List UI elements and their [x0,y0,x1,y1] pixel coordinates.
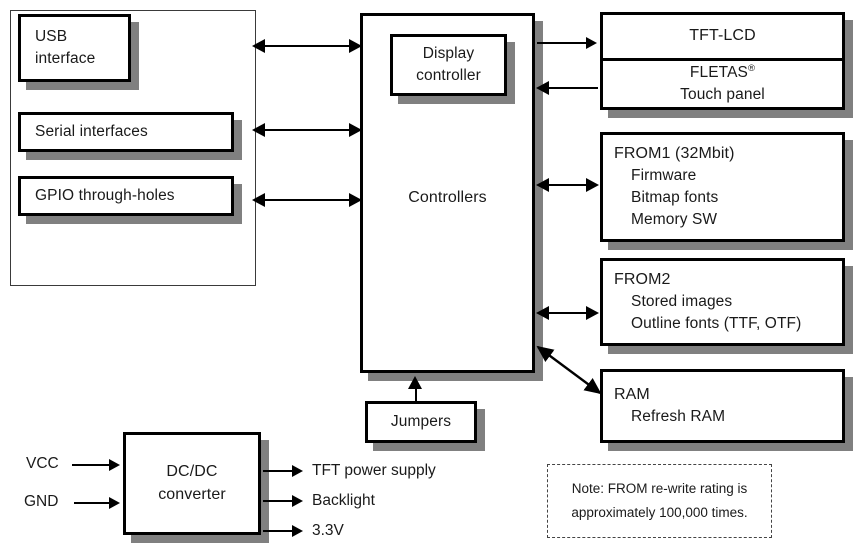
dcdc-converter-line-2: converter [158,484,226,507]
gpio-through-holes-label: GPIO through-holes [21,185,175,207]
jumpers-to-controllers-line [415,388,417,403]
display-controller-line-2: controller [416,65,481,87]
touch-panel-label: Touch panel [680,84,765,106]
usb-interface-block[interactable]: USB interface [18,14,131,82]
controllers-to-ram-diagonal-arrow [530,340,610,410]
vcc-input-label: VCC [26,455,59,473]
three-three-volt-arrowhead [292,525,303,537]
note-box: Note: FROM re-write rating is approximat… [547,464,772,538]
display-module-block[interactable]: TFT-LCD FLETAS® Touch panel [600,12,845,110]
backlight-arrowhead [292,495,303,507]
gpio-through-holes-block[interactable]: GPIO through-holes [18,176,234,216]
ram-item-refresh-ram: Refresh RAM [614,406,725,428]
from1-title: FROM1 (32Mbit) [614,143,735,166]
from2-item-stored-images: Stored images [614,291,732,313]
jumpers-to-controllers-arrowhead [408,376,422,389]
from1-item-memory-sw: Memory SW [614,209,717,231]
controllers-to-from1-arrowhead-left [536,178,549,192]
display-controller-block[interactable]: Display controller [390,34,507,96]
controllers-to-from2-arrowhead-right [586,306,599,320]
serial-interfaces-block[interactable]: Serial interfaces [18,112,234,152]
vcc-input-line [72,464,111,466]
dcdc-converter-line-1: DC/DC [166,461,217,484]
note-line-1: Note: FROM re-write rating is [572,477,748,501]
block-diagram-canvas: USB interface Serial interfaces GPIO thr… [0,0,866,554]
controllers-to-from2-arrowhead-left [536,306,549,320]
gnd-input-line [74,502,111,504]
tft-lcd-label: TFT-LCD [689,25,755,48]
controllers-block[interactable]: Display controller Controllers [360,13,535,373]
usb-interface-line-2: interface [21,48,95,70]
serial-to-controllers-arrowhead-left [252,123,265,137]
three-three-volt-label: 3.3V [312,522,344,540]
controllers-to-from2-line [548,312,590,314]
gnd-input-label: GND [24,493,58,511]
backlight-line [263,500,294,502]
gpio-to-controllers-arrowhead-left [252,193,265,207]
fletas-brand-text: FLETAS [690,64,748,81]
from2-block[interactable]: FROM2 Stored images Outline fonts (TTF, … [600,258,845,346]
touch-panel-to-controllers-arrowhead [536,81,549,95]
touch-panel-to-controllers-line [548,87,598,89]
usb-to-controllers-arrowhead-right [349,39,362,53]
tft-power-supply-line [263,470,294,472]
usb-to-controllers-arrowhead-left [252,39,265,53]
vcc-input-arrowhead [109,459,120,471]
controllers-label: Controllers [363,187,532,210]
note-line-2: approximately 100,000 times. [571,501,747,525]
from1-block[interactable]: FROM1 (32Mbit) Firmware Bitmap fonts Mem… [600,132,845,242]
display-controller-line-1: Display [423,43,475,65]
usb-to-controllers-line [264,45,354,47]
touch-panel-section[interactable]: FLETAS® Touch panel [603,61,842,107]
ram-block[interactable]: RAM Refresh RAM [600,369,845,443]
gpio-to-controllers-line [264,199,354,201]
usb-interface-line-1: USB [21,26,67,48]
from2-item-outline-fonts: Outline fonts (TTF, OTF) [614,313,801,335]
controllers-to-from1-arrowhead-right [586,178,599,192]
from2-title: FROM2 [614,269,671,292]
tft-power-supply-label: TFT power supply [312,462,436,480]
tft-lcd-section[interactable]: TFT-LCD [603,15,842,61]
from1-item-bitmap-fonts: Bitmap fonts [614,187,718,209]
controllers-to-from1-line [548,184,590,186]
backlight-label: Backlight [312,492,375,510]
fletas-brand-line: FLETAS® [690,62,755,84]
tft-power-supply-arrowhead [292,465,303,477]
jumpers-label: Jumpers [391,411,451,433]
ram-title: RAM [614,384,650,407]
serial-to-controllers-arrowhead-right [349,123,362,137]
serial-interfaces-label: Serial interfaces [21,121,148,143]
controllers-to-tft-lcd-arrowhead [586,37,597,49]
gnd-input-arrowhead [109,497,120,509]
jumpers-block[interactable]: Jumpers [365,401,477,443]
three-three-volt-line [263,530,294,532]
registered-mark-icon: ® [748,63,755,74]
controllers-to-tft-lcd-line [537,42,588,44]
from1-item-firmware: Firmware [614,165,696,187]
serial-to-controllers-line [264,129,354,131]
dcdc-converter-block[interactable]: DC/DC converter [123,432,261,535]
gpio-to-controllers-arrowhead-right [349,193,362,207]
